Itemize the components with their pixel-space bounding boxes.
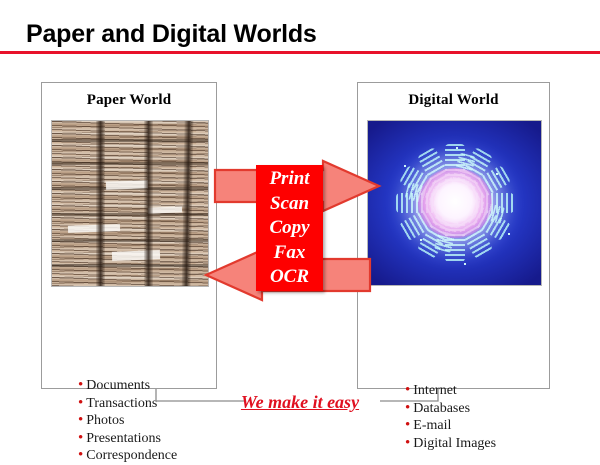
- title-divider-rule: [0, 51, 600, 54]
- page-title: Paper and Digital Worlds: [26, 20, 317, 49]
- list-item: •Digital Images: [405, 435, 496, 453]
- digital-world-panel: Digital World •Internet •Databases •E-ma…: [357, 82, 550, 389]
- list-item-label: Digital Images: [413, 436, 496, 451]
- conversion-methods-box: Print Scan Copy Fax OCR: [256, 165, 323, 291]
- conversion-method-label: Print: [256, 167, 323, 192]
- conversion-method-label: Scan: [256, 192, 323, 217]
- stacked-paper-photo: [51, 120, 209, 287]
- bullet-dot-icon: •: [78, 447, 83, 463]
- conversion-method-label: Fax: [256, 241, 323, 266]
- digital-world-heading: Digital World: [358, 92, 549, 109]
- list-item: •Presentations: [78, 430, 177, 448]
- paper-world-panel: Paper World •Documents •Transactions •Ph…: [41, 82, 217, 389]
- bullet-dot-icon: •: [405, 435, 410, 451]
- list-item-label: Presentations: [86, 431, 161, 446]
- binary-burst-photo: [367, 120, 542, 286]
- bullet-dot-icon: •: [78, 430, 83, 446]
- list-item-label: Correspondence: [86, 448, 177, 463]
- list-item-label: E-mail: [413, 418, 451, 433]
- conversion-method-label: Copy: [256, 216, 323, 241]
- conversion-method-label: OCR: [256, 265, 323, 290]
- paper-world-heading: Paper World: [42, 92, 216, 109]
- tagline: We make it easy: [0, 392, 600, 413]
